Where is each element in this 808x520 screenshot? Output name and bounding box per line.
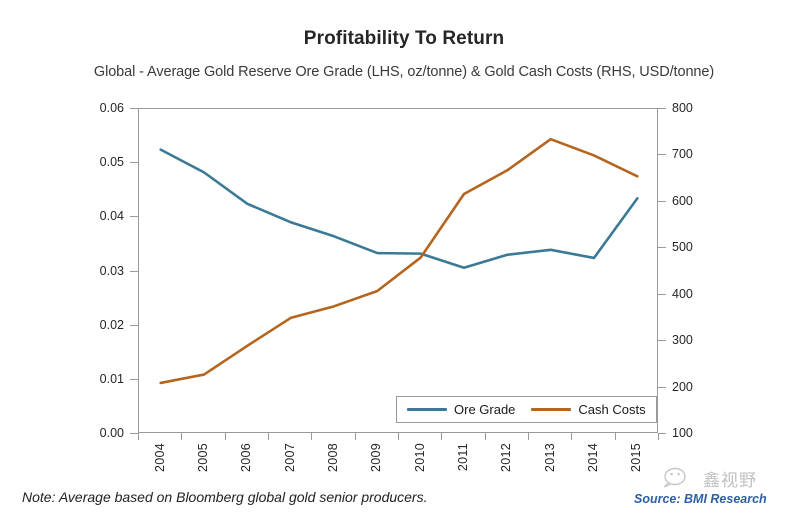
x-tick-label: 2013 [543, 443, 557, 472]
y-tick-right: 100 [672, 426, 693, 440]
series-line-ore-grade [161, 150, 638, 268]
x-tick-label: 2011 [456, 443, 470, 471]
y-tick-left: 0.00 [100, 426, 124, 440]
x-tick-label: 2009 [369, 443, 383, 472]
chart-page: Profitability To Return Global - Average… [0, 0, 808, 520]
legend-label: Ore Grade [454, 402, 515, 417]
y-tick-right: 300 [672, 333, 693, 347]
x-tick-mark [571, 433, 572, 440]
x-tick-mark [658, 433, 659, 440]
x-tick-mark [311, 433, 312, 440]
y-tick-right: 800 [672, 101, 693, 115]
y-tick-mark-left [130, 379, 138, 380]
x-tick-label: 2006 [239, 443, 253, 472]
x-tick-mark [181, 433, 182, 440]
y-tick-left: 0.03 [100, 264, 124, 278]
x-tick-mark [615, 433, 616, 440]
x-tick-mark [268, 433, 269, 440]
x-tick-label: 2012 [499, 443, 513, 472]
wechat-icon [662, 467, 696, 491]
y-tick-mark-left [130, 108, 138, 109]
x-tick-mark [528, 433, 529, 440]
y-tick-right: 600 [672, 194, 693, 208]
x-tick-mark [398, 433, 399, 440]
watermark: 鑫视野 [662, 466, 757, 491]
x-axis: 2004200520062007200820092010201120122013… [138, 433, 658, 493]
y-tick-mark-left [130, 162, 138, 163]
y-tick-mark-right [658, 201, 666, 202]
x-tick-label: 2014 [586, 443, 600, 472]
x-tick-mark [138, 433, 139, 440]
chart-source: Source: BMI Research [634, 492, 767, 506]
x-tick-mark [485, 433, 486, 440]
y-tick-left: 0.05 [100, 155, 124, 169]
series-line-cash-costs [161, 139, 638, 383]
chart-subtitle: Global - Average Gold Reserve Ore Grade … [0, 64, 808, 80]
y-tick-left: 0.02 [100, 318, 124, 332]
y-tick-mark-right [658, 294, 666, 295]
y-tick-mark-right [658, 433, 666, 434]
chart-title: Profitability To Return [0, 28, 808, 50]
watermark-text: 鑫视野 [703, 466, 757, 491]
legend-item-cash-costs[interactable]: Cash Costs [531, 402, 645, 417]
plot-area [138, 108, 658, 433]
y-tick-right: 500 [672, 240, 693, 254]
x-tick-mark [225, 433, 226, 440]
y-tick-right: 400 [672, 287, 693, 301]
y-tick-right: 200 [672, 380, 693, 394]
x-tick-label: 2005 [196, 443, 210, 472]
y-tick-mark-left [130, 216, 138, 217]
legend-label: Cash Costs [578, 402, 645, 417]
plot-lines [139, 109, 659, 434]
y-tick-mark-right [658, 387, 666, 388]
chart-note: Note: Average based on Bloomberg global … [22, 489, 427, 505]
y-tick-right: 700 [672, 147, 693, 161]
y-axis-left: 0.000.010.020.030.040.050.06 [78, 108, 132, 433]
x-tick-label: 2010 [413, 443, 427, 472]
y-tick-mark-right [658, 340, 666, 341]
x-tick-label: 2004 [153, 443, 167, 472]
y-tick-mark-right [658, 154, 666, 155]
y-tick-mark-right [658, 247, 666, 248]
chart-legend: Ore GradeCash Costs [396, 396, 657, 423]
y-tick-mark-left [130, 433, 138, 434]
y-tick-mark-left [130, 271, 138, 272]
y-tick-left: 0.04 [100, 209, 124, 223]
x-tick-label: 2008 [326, 443, 340, 472]
x-tick-label: 2007 [283, 443, 297, 472]
legend-swatch-icon [531, 408, 571, 411]
legend-swatch-icon [407, 408, 447, 411]
x-tick-mark [355, 433, 356, 440]
y-tick-left: 0.06 [100, 101, 124, 115]
y-axis-right: 100200300400500600700800 [664, 108, 720, 433]
y-tick-left: 0.01 [100, 372, 124, 386]
y-tick-mark-right [658, 108, 666, 109]
x-tick-label: 2015 [629, 443, 643, 472]
x-tick-mark [441, 433, 442, 440]
y-tick-mark-left [130, 325, 138, 326]
legend-item-ore-grade[interactable]: Ore Grade [407, 402, 515, 417]
